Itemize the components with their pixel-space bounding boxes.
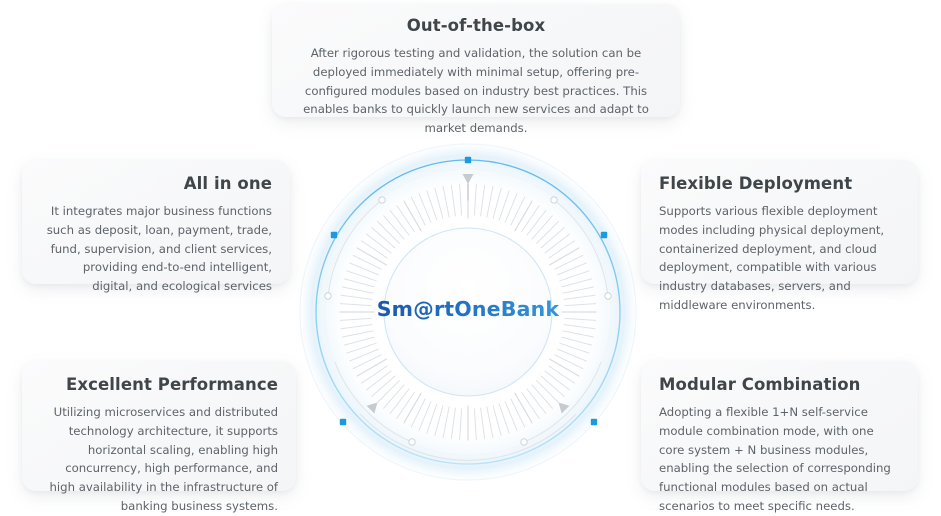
card-excellent-performance[interactable]: Excellent Performance Utilizing microser… xyxy=(22,361,296,491)
card-body-modular-combination: Adopting a flexible 1+N self-service mod… xyxy=(659,403,900,516)
card-title-all-in-one: All in one xyxy=(40,174,272,195)
card-body-all-in-one: It integrates major business functions s… xyxy=(40,202,272,297)
card-body-excellent-performance: Utilizing microservices and distributed … xyxy=(40,403,278,516)
endpoint-ur-a xyxy=(551,197,557,203)
card-out-of-the-box[interactable]: Out-of-the-box After rigorous testing an… xyxy=(272,4,680,117)
card-title-excellent-performance: Excellent Performance xyxy=(40,375,278,396)
card-title-flexible-deployment: Flexible Deployment xyxy=(659,174,900,195)
endpoint-lr-b xyxy=(521,439,527,445)
card-title-out-of-the-box: Out-of-the-box xyxy=(290,16,662,37)
card-body-out-of-the-box: After rigorous testing and validation, t… xyxy=(290,44,662,139)
endpoint-ul-a xyxy=(379,197,385,203)
brand-label: Sm@rtOneBank xyxy=(348,297,588,321)
endpoint-ur-b xyxy=(605,293,611,299)
node-bottom-right-dot[interactable] xyxy=(591,419,597,425)
endpoint-ll-b xyxy=(409,439,415,445)
node-top-dot[interactable] xyxy=(465,157,471,163)
node-left-dot[interactable] xyxy=(331,232,337,238)
card-modular-combination[interactable]: Modular Combination Adopting a flexible … xyxy=(641,361,918,491)
card-body-flexible-deployment: Supports various flexible deployment mod… xyxy=(659,202,900,316)
node-bottom-left-dot[interactable] xyxy=(340,419,346,425)
infographic-stage: Sm@rtOneBank Out-of-the-box After rigoro… xyxy=(0,0,941,500)
card-all-in-one[interactable]: All in one It integrates major business … xyxy=(22,160,290,284)
card-title-modular-combination: Modular Combination xyxy=(659,375,900,396)
endpoint-ul-b xyxy=(325,293,331,299)
card-flexible-deployment[interactable]: Flexible Deployment Supports various fle… xyxy=(641,160,918,284)
node-right-dot[interactable] xyxy=(601,232,607,238)
